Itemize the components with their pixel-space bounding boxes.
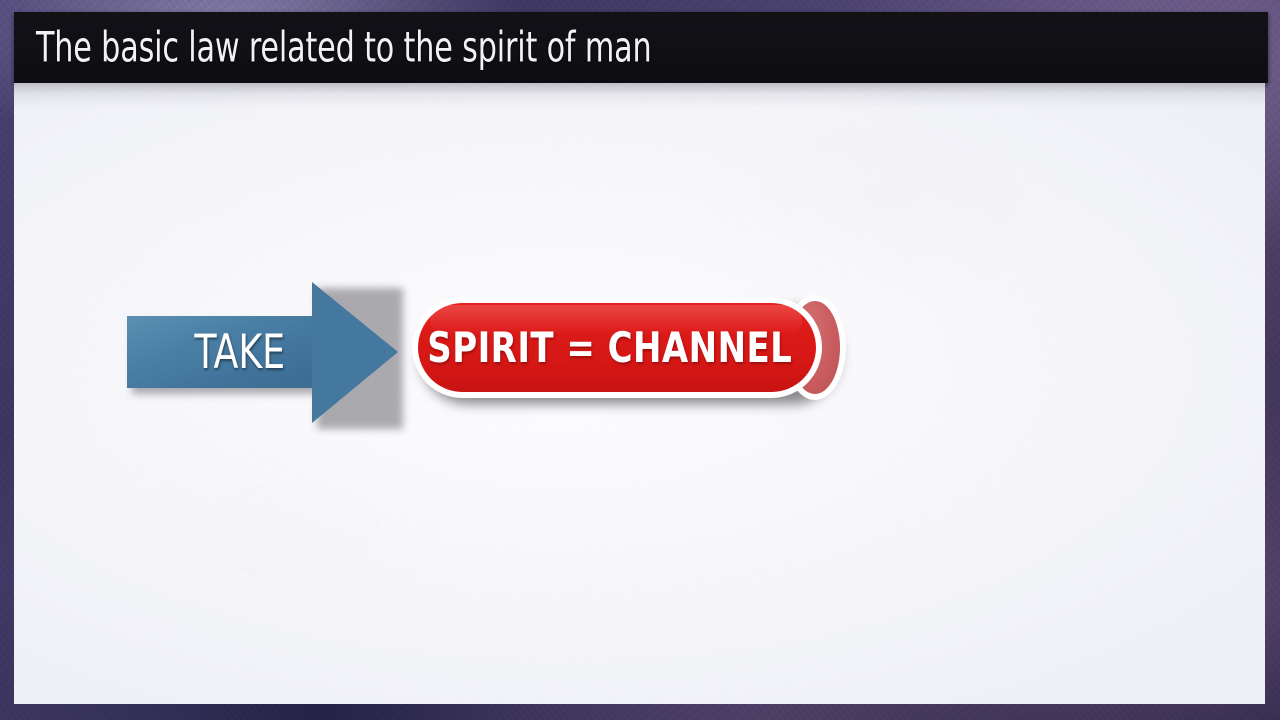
arrow-head-icon xyxy=(312,282,398,423)
slide: The basic law related to the spirit of m… xyxy=(0,0,1280,720)
page-title-text: The basic law related to the spirit of m… xyxy=(36,22,651,71)
take-arrow-shape[interactable]: TAKE xyxy=(127,282,417,432)
spirit-channel-cylinder-shape[interactable]: SPIRIT = CHANNEL xyxy=(410,297,858,413)
slide-content-area: TAKE SPIRIT = CHANNEL xyxy=(14,83,1265,704)
page-title: The basic law related to the spirit of m… xyxy=(36,22,805,71)
cylinder-label: SPIRIT = CHANNEL xyxy=(420,297,800,398)
title-bar: The basic law related to the spirit of m… xyxy=(14,12,1268,83)
canvas-top-shadow xyxy=(14,83,1265,109)
arrow-label-text: TAKE xyxy=(195,325,286,380)
cylinder-label-text: SPIRIT = CHANNEL xyxy=(427,323,792,372)
arrow-label: TAKE xyxy=(175,316,305,388)
